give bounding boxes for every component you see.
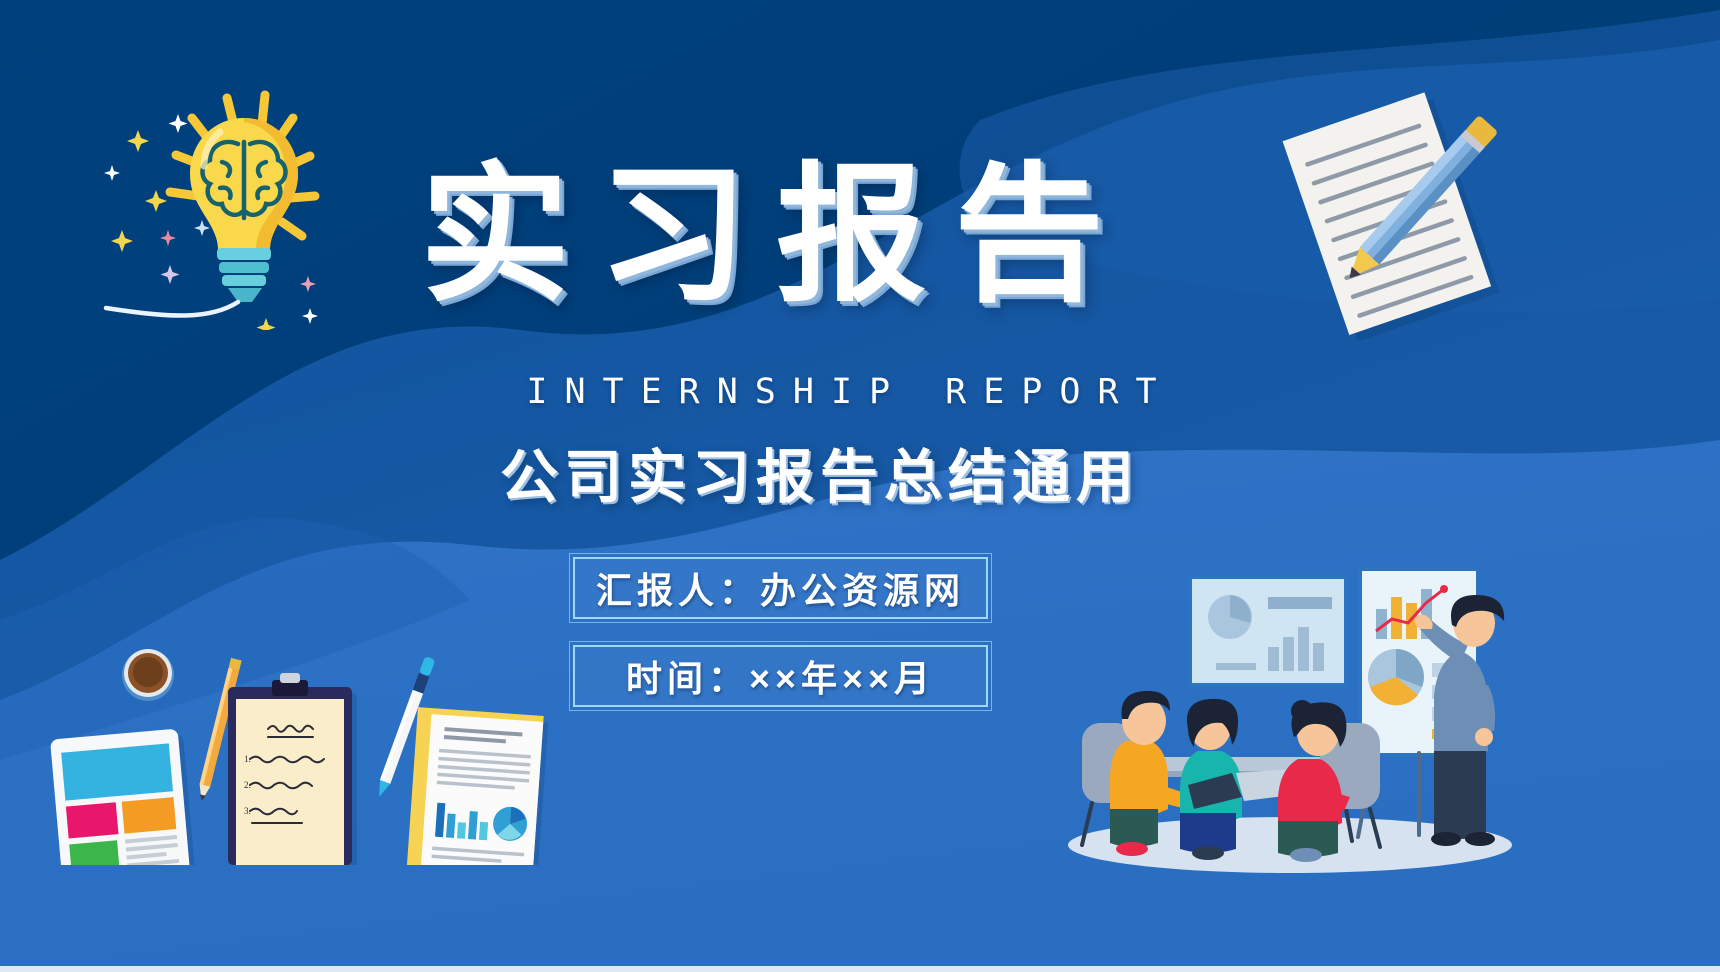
bulb-wire [106,302,238,316]
business-meeting-illustration [1040,545,1540,875]
bulb-base [217,248,271,302]
svg-text:2.: 2. [244,780,251,790]
tablet-device-icon [50,728,196,865]
coffee-cup-icon [122,649,174,701]
lined-paper-pencil-illustration [1275,85,1525,340]
clipboard-notes-icon: 1. 2. 3. [228,673,357,865]
lightbulb-illustration [60,70,350,330]
svg-text:3.: 3. [244,806,251,816]
wall-chart-board [1188,575,1348,687]
svg-text:1.: 1. [244,754,251,764]
desk-flatlay-illustration: 1. 2. 3. [40,625,550,865]
report-folder-icon [406,707,548,865]
presentation-cover-slide: 1. 2. 3. [0,0,1720,972]
